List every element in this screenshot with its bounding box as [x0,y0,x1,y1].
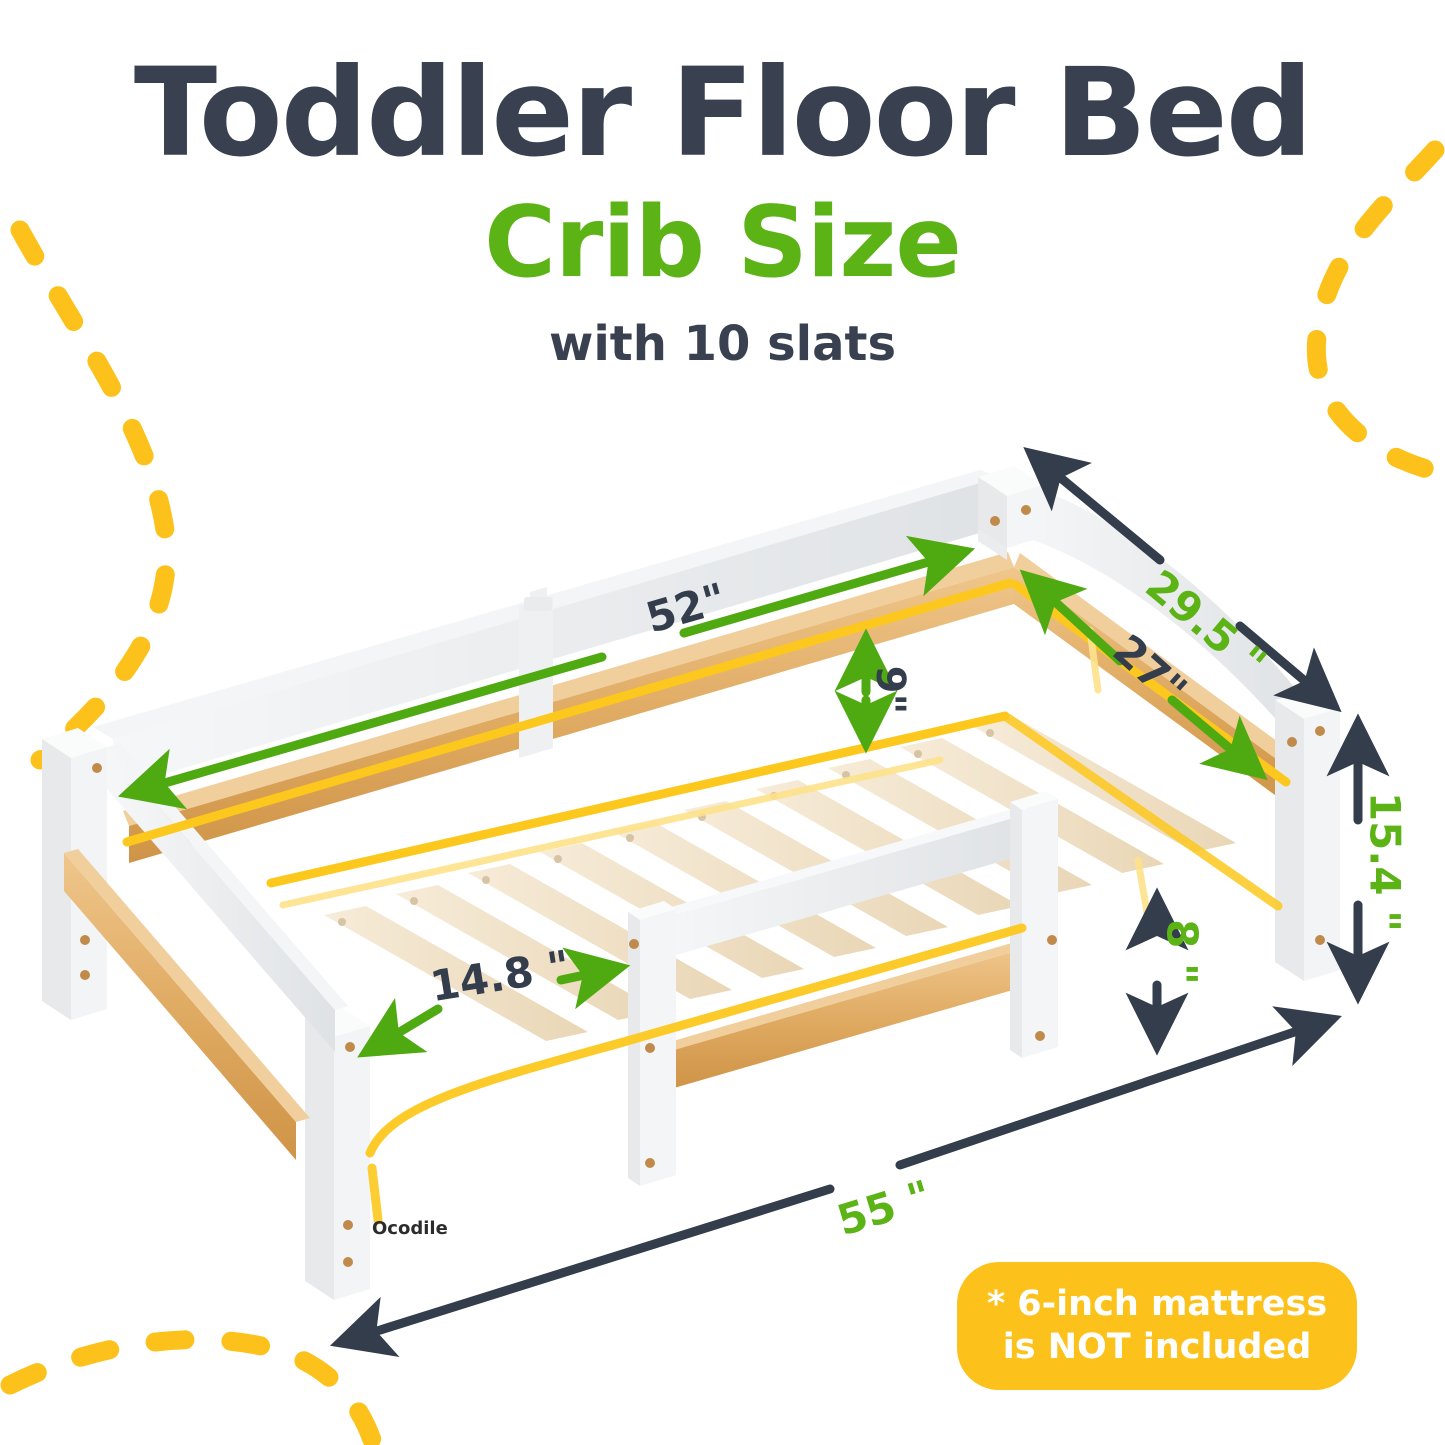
post-front-left [305,1007,370,1300]
infographic-canvas: Toddler Floor Bed Crib Size with 10 slat… [0,0,1445,1445]
mattress-not-included-badge: * 6-inch mattress is NOT included [957,1262,1357,1390]
badge-line-1: * 6-inch mattress [987,1283,1327,1326]
dimension-label-side-height: 8 " [1158,919,1207,985]
product-illustration [0,0,1445,1445]
dimension-label-total-height: 15.4 " [1361,792,1410,932]
brand-logo: Ocodile [372,1218,448,1239]
badge-line-2: is NOT included [1003,1326,1312,1369]
dimension-label-rail-height: 9" [867,666,913,715]
post-back-right [978,466,1043,560]
